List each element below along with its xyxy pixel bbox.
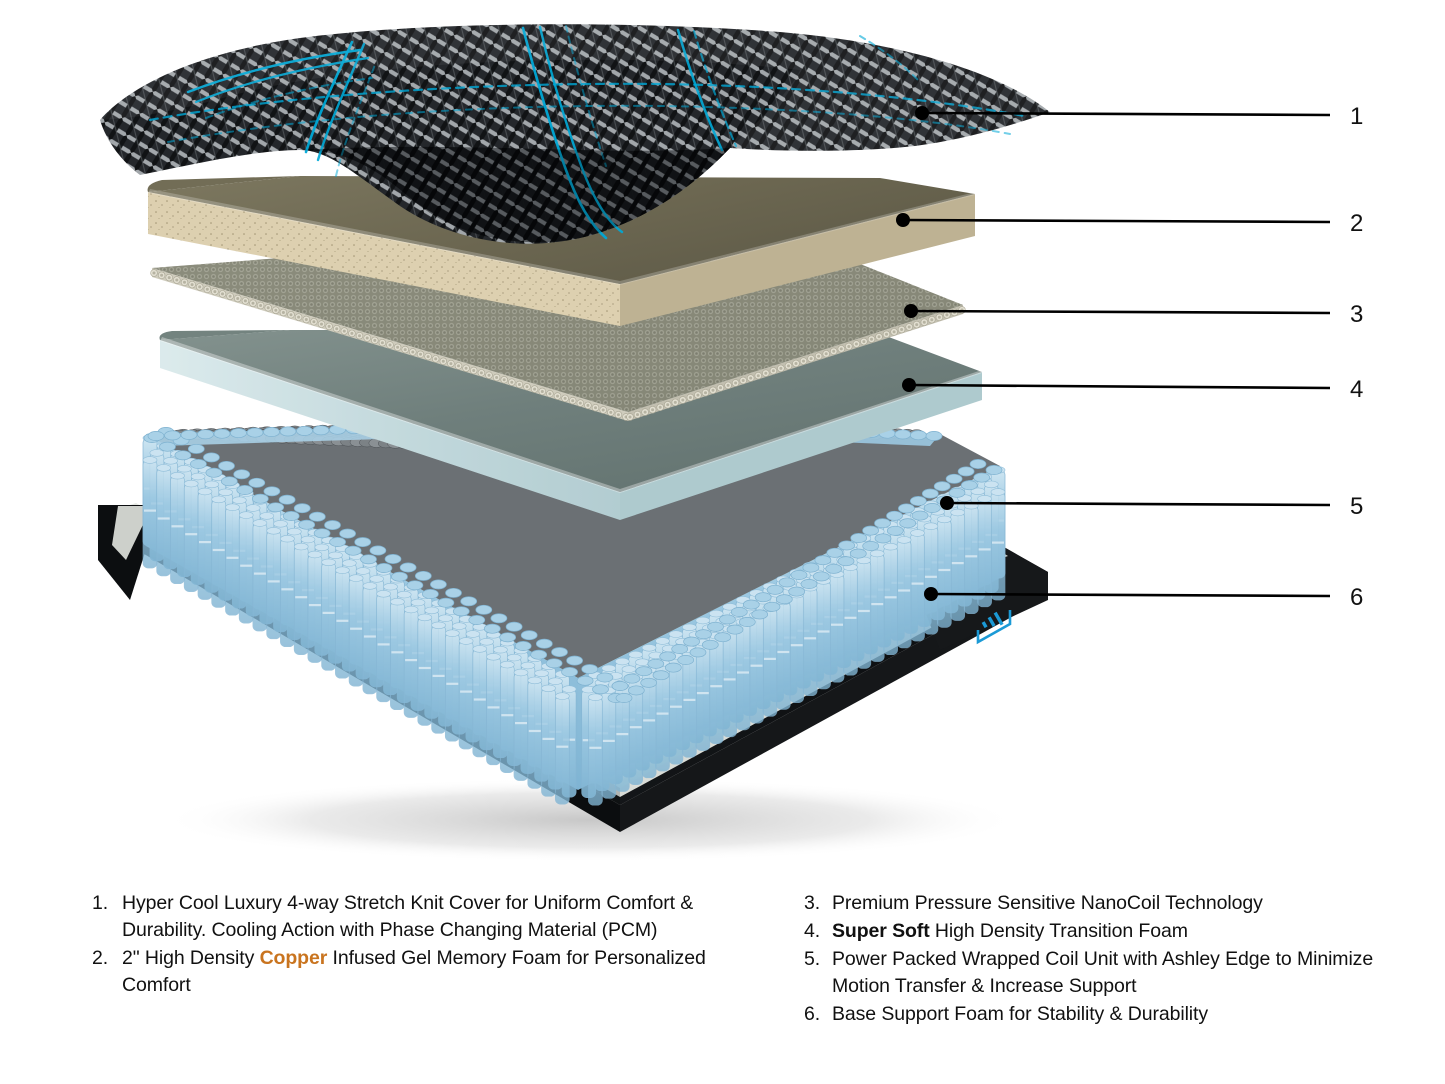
callout-number: 5 [1350,493,1363,520]
legend-text-run: Premium Pressure Sensitive NanoCoil Tech… [832,892,1263,914]
legend-column-right: 3.Premium Pressure Sensitive NanoCoil Te… [800,890,1390,1029]
legend-column-left: 1.Hyper Cool Luxury 4-way Stretch Knit C… [88,890,778,1000]
copper-highlight: Copper [260,947,328,969]
mattress-exploded-diagram: 123456 [0,0,1445,880]
legend-item-number: 3. [800,890,832,917]
legend-item: 2.2" High Density Copper Infused Gel Mem… [88,945,778,999]
legend-item-number: 6. [800,1001,832,1028]
callout-number: 1 [1350,103,1363,130]
legend-item-text: Base Support Foam for Stability & Durabi… [832,1001,1390,1028]
legend-item-number: 2. [88,945,122,972]
callout-number: 2 [1350,210,1363,237]
bold-highlight: Super Soft [832,920,930,942]
legend-item-text: Super Soft High Density Transition Foam [832,918,1390,945]
legend-text-run: High Density Transition Foam [930,920,1188,942]
legend: 1.Hyper Cool Luxury 4-way Stretch Knit C… [0,890,1445,1084]
legend-item-text: Power Packed Wrapped Coil Unit with Ashl… [832,946,1390,1000]
legend-item-text: 2" High Density Copper Infused Gel Memor… [122,945,778,999]
callout-number: 4 [1350,376,1363,403]
callout-number: 6 [1350,584,1363,611]
legend-text-run: Hyper Cool Luxury 4-way Stretch Knit Cov… [122,892,693,941]
legend-item-number: 4. [800,918,832,945]
legend-item: 3.Premium Pressure Sensitive NanoCoil Te… [800,890,1390,917]
legend-item-number: 5. [800,946,832,973]
legend-item: 6.Base Support Foam for Stability & Dura… [800,1001,1390,1028]
callout-number: 3 [1350,301,1363,328]
legend-item: 5.Power Packed Wrapped Coil Unit with As… [800,946,1390,1000]
legend-text-run: 2" High Density [122,947,260,969]
legend-item: 1.Hyper Cool Luxury 4-way Stretch Knit C… [88,890,778,944]
legend-item-text: Hyper Cool Luxury 4-way Stretch Knit Cov… [122,890,778,944]
legend-text-run: Power Packed Wrapped Coil Unit with Ashl… [832,948,1373,997]
legend-item: 4.Super Soft High Density Transition Foa… [800,918,1390,945]
legend-item-number: 1. [88,890,122,917]
legend-text-run: Base Support Foam for Stability & Durabi… [832,1003,1208,1025]
legend-item-text: Premium Pressure Sensitive NanoCoil Tech… [832,890,1390,917]
